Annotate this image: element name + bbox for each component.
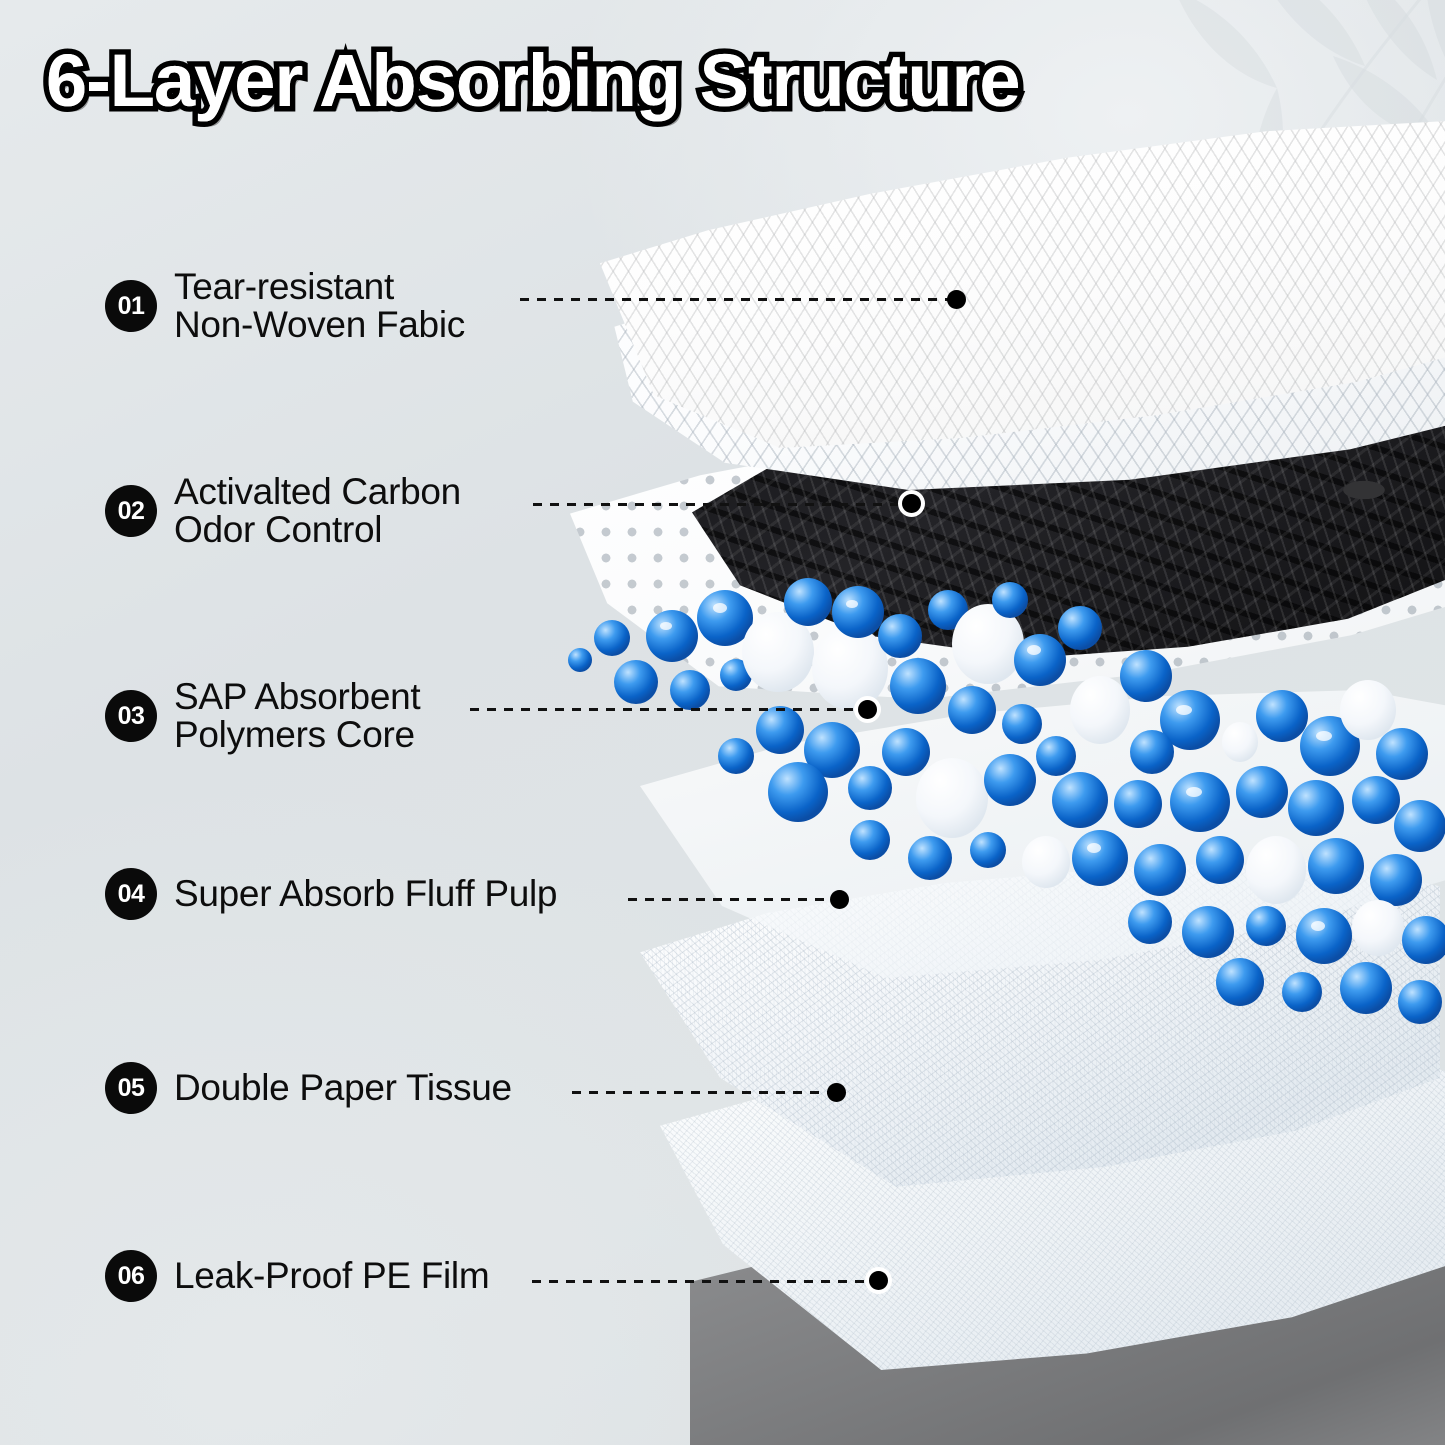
page-title-outline: 6-Layer Absorbing Structure: [46, 38, 1020, 123]
callout-layer-05[interactable]: 05Double Paper Tissue: [105, 1062, 512, 1114]
callout-layer-04[interactable]: 04Super Absorb Fluff Pulp: [105, 868, 557, 920]
layer-3-sap-gel-beads: [540, 540, 1445, 1060]
leader-endpoint-dot-06: [869, 1271, 888, 1290]
layer-number-badge-05: 05: [105, 1062, 157, 1114]
layer-4-fluff-pulp: [640, 860, 1440, 1190]
layer-label-line1: Leak-Proof PE Film: [174, 1257, 489, 1295]
layer-label-01: Tear-resistantNon-Woven Fabic: [174, 268, 465, 344]
callout-layer-02[interactable]: 02Activalted CarbonOdor Control: [105, 473, 461, 549]
leader-line-02: [533, 503, 905, 506]
leader-line-05: [572, 1091, 830, 1094]
layer-5-paper-tissue: [660, 1040, 1445, 1370]
leader-line-04: [628, 898, 833, 901]
layer-label-line1: SAP Absorbent: [174, 678, 420, 716]
layer-label-line1: Tear-resistant: [174, 268, 465, 306]
layer-number-badge-06: 06: [105, 1250, 157, 1302]
layer-label-line2: Odor Control: [174, 511, 461, 549]
layer-2-perforated-sheet: [570, 392, 1445, 712]
callout-layer-06[interactable]: 06Leak-Proof PE Film: [105, 1250, 489, 1302]
layer-2-activated-charcoal: [660, 378, 1445, 658]
layer-label-04: Super Absorb Fluff Pulp: [174, 875, 557, 913]
layer-label-line1: Super Absorb Fluff Pulp: [174, 875, 557, 913]
callout-layer-03[interactable]: 03SAP AbsorbentPolymers Core: [105, 678, 420, 754]
leader-endpoint-dot-05: [827, 1083, 846, 1102]
leader-endpoint-dot-04: [830, 890, 849, 909]
layer-1-nonwoven-fabric-back: [596, 150, 1445, 490]
infographic-canvas: 6-Layer Absorbing Structure 6-Layer Abso…: [0, 0, 1445, 1445]
layer-label-03: SAP AbsorbentPolymers Core: [174, 678, 420, 754]
layer-number-badge-03: 03: [105, 690, 157, 742]
leader-endpoint-dot-03: [858, 700, 877, 719]
layer-label-line2: Non-Woven Fabic: [174, 306, 465, 344]
layer-6-pe-film: [690, 1210, 1445, 1445]
leader-endpoint-dot-01: [947, 290, 966, 309]
layer-label-05: Double Paper Tissue: [174, 1069, 512, 1107]
layer-label-line2: Polymers Core: [174, 716, 420, 754]
layer-1-nonwoven-fabric: [600, 118, 1445, 448]
leader-line-06: [532, 1280, 872, 1283]
layer-number-badge-04: 04: [105, 868, 157, 920]
leader-line-01: [520, 298, 950, 301]
layer-label-06: Leak-Proof PE Film: [174, 1257, 489, 1295]
layer-3-sap-base-sheet: [640, 690, 1445, 990]
callout-layer-01[interactable]: 01Tear-resistantNon-Woven Fabic: [105, 268, 465, 344]
layer-number-badge-01: 01: [105, 280, 157, 332]
layer-label-line1: Double Paper Tissue: [174, 1069, 512, 1107]
layer-number-badge-02: 02: [105, 485, 157, 537]
leader-line-03: [470, 708, 862, 711]
leader-endpoint-dot-02: [902, 494, 921, 513]
layer-label-02: Activalted CarbonOdor Control: [174, 473, 461, 549]
layer-label-line1: Activalted Carbon: [174, 473, 461, 511]
